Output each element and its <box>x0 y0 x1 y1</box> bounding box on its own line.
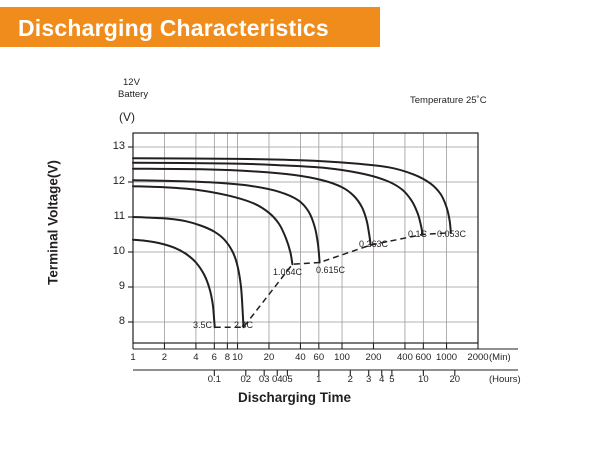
x-tick-label-min: 1 <box>118 352 148 363</box>
battery-label-line2: Battery <box>118 89 148 100</box>
y-tick-label: 11 <box>99 210 125 222</box>
chart-container: 12V Battery (V) Temperature 25˚C Termina… <box>0 55 600 451</box>
curve-label: 0.053C <box>437 229 466 239</box>
temperature-label: Temperature 25˚C <box>410 95 487 106</box>
x-unit-hours: (Hours) <box>489 374 521 385</box>
curve-label: 0.263C <box>359 239 388 249</box>
x-tick-label-min: 200 <box>358 352 388 363</box>
discharge-characteristics-page: Discharging Characteristics 12V Battery … <box>0 0 600 451</box>
y-tick-label: 8 <box>99 315 125 327</box>
curve-label: 0.1C <box>408 229 427 239</box>
x-tick-label-min: 20 <box>254 352 284 363</box>
curve-label: 0.615C <box>316 265 345 275</box>
curve-label: 1.064C <box>273 267 302 277</box>
y-tick-label: 13 <box>99 140 125 152</box>
curve-2_4C <box>133 217 243 327</box>
x-tick-label-hour: 0.1 <box>199 374 229 385</box>
voltage-unit-label: (V) <box>119 110 135 124</box>
cutoff-dashed-locus <box>215 233 451 328</box>
curve-label: 2.4C <box>234 320 253 330</box>
x-tick-label-hour: 5 <box>377 374 407 385</box>
curve-1_064C <box>133 186 292 264</box>
x-tick-label-hour: 05 <box>272 374 302 385</box>
curve-0_615C <box>133 180 320 262</box>
x-tick-label-min: 2 <box>149 352 179 363</box>
x-tick-label-hour: 20 <box>440 374 470 385</box>
y-tick-label: 12 <box>99 175 125 187</box>
x-unit-minutes: (Min) <box>489 352 511 363</box>
y-axis-title: Terminal Voltage(V) <box>46 143 61 303</box>
curve-3_5C <box>133 240 215 328</box>
x-tick-label-min: 1000 <box>432 352 462 363</box>
x-tick-label-hour: 1 <box>304 374 334 385</box>
y-tick-label: 9 <box>99 280 125 292</box>
x-tick-label-hour: 10 <box>408 374 438 385</box>
y-tick-label: 10 <box>99 245 125 257</box>
battery-label-line1: 12V <box>123 77 140 88</box>
curve-label: 3.5C <box>193 320 212 330</box>
x-tick-label-min: 10 <box>223 352 253 363</box>
x-tick-label-min: 100 <box>327 352 357 363</box>
x-axis-title: Discharging Time <box>238 390 351 405</box>
page-title: Discharging Characteristics <box>18 13 378 43</box>
curve-layer <box>133 158 451 327</box>
